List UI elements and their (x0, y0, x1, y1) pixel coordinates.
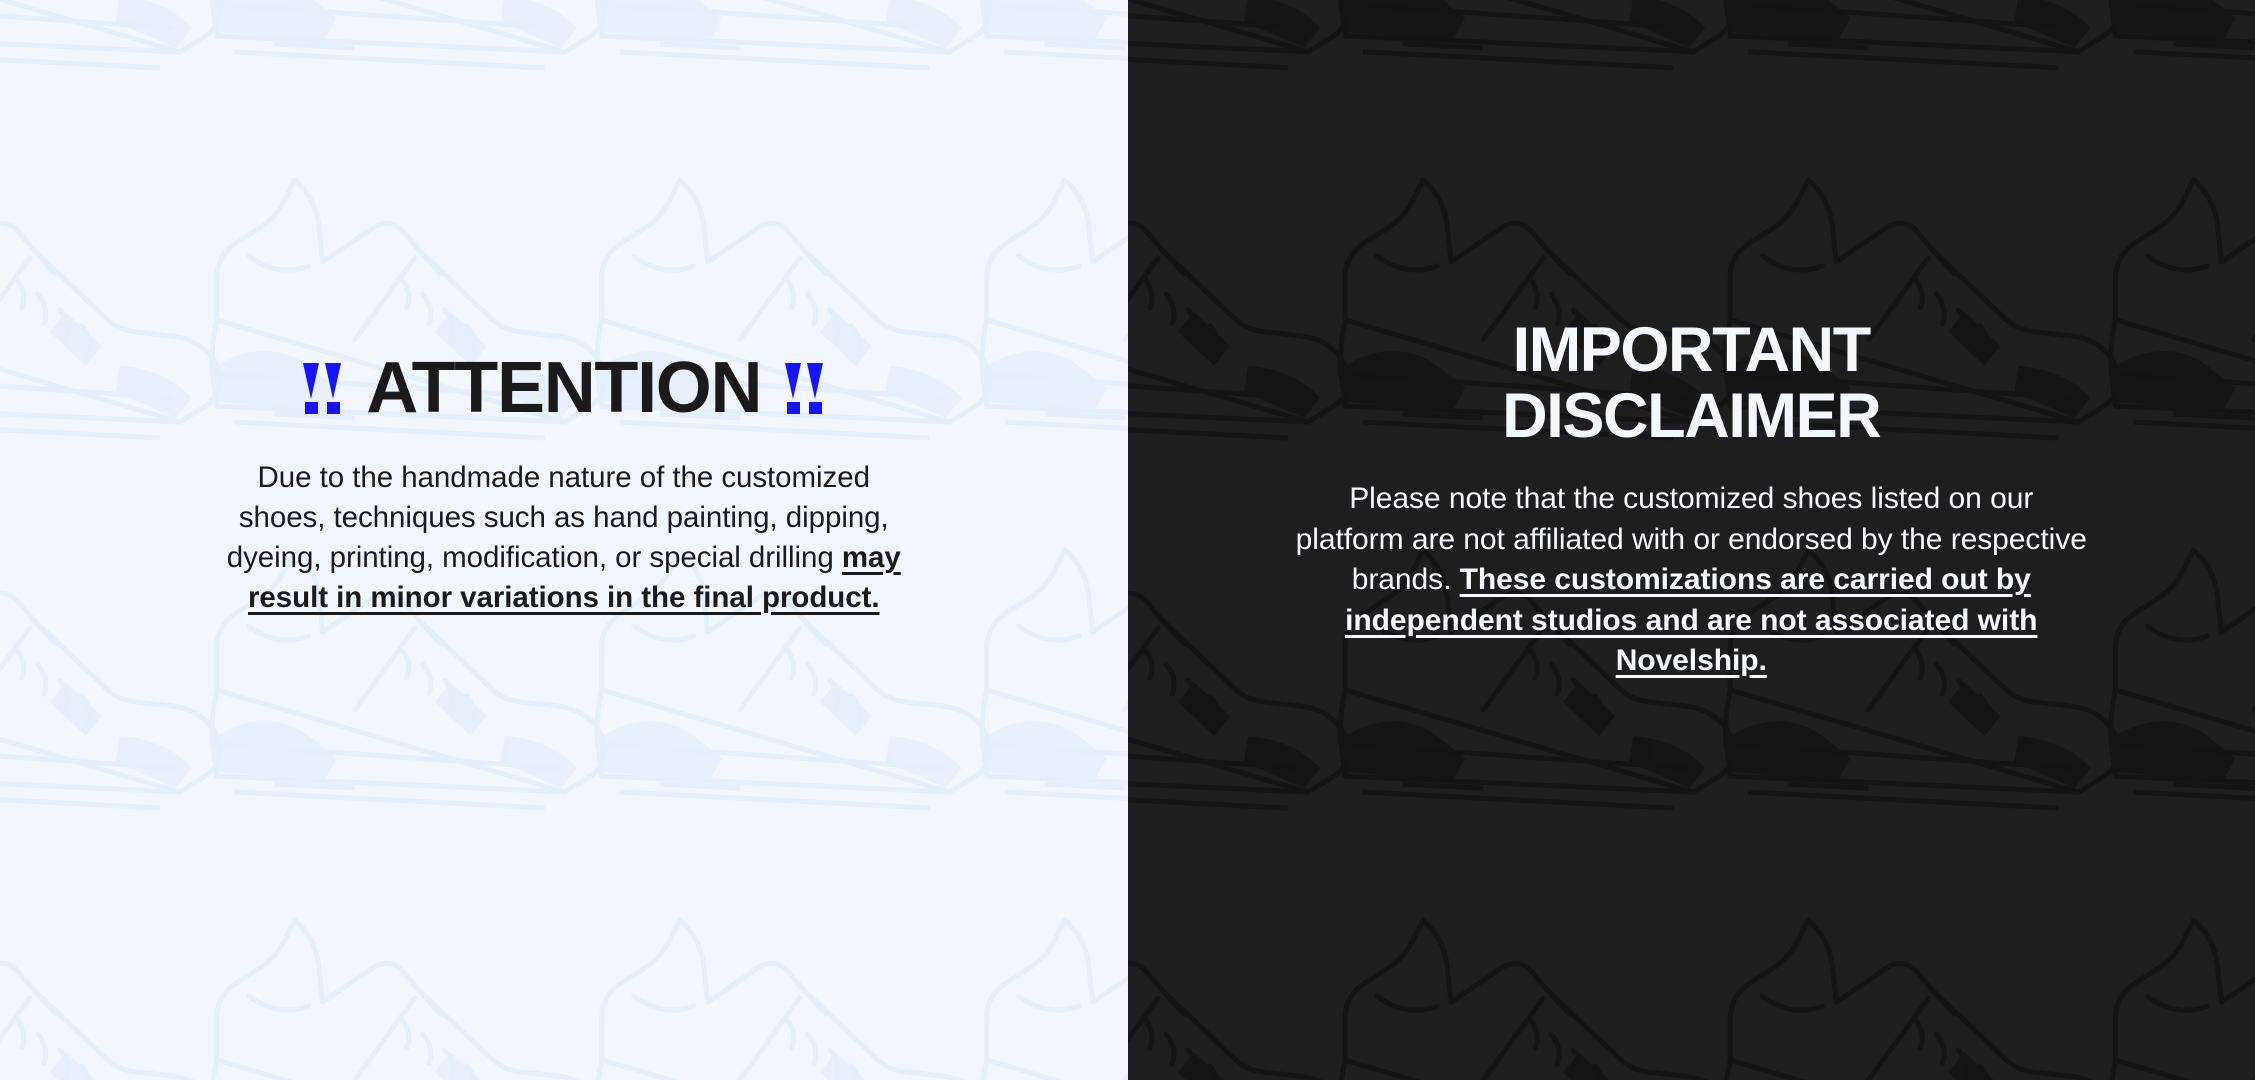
double-exclamation-right-icon (785, 363, 824, 414)
attention-content: ATTENTION Due to the handmade nature of … (0, 0, 1128, 618)
disclaimer-panel: IMPORTANT DISCLAIMER Please note that th… (1128, 0, 2255, 1080)
attention-panel: ATTENTION Due to the handmade nature of … (0, 0, 1128, 1080)
disclaimer-body: Please note that the customized shoes li… (1291, 479, 2091, 682)
attention-body-normal: Due to the handmade nature of the custom… (227, 461, 889, 574)
attention-body: Due to the handmade nature of the custom… (214, 458, 914, 618)
disclaimer-heading-line1: IMPORTANT (1502, 318, 1880, 384)
attention-heading: ATTENTION (303, 352, 824, 424)
double-exclamation-left-icon (303, 363, 342, 414)
disclaimer-banner: ATTENTION Due to the handmade nature of … (0, 0, 2255, 1080)
disclaimer-content: IMPORTANT DISCLAIMER Please note that th… (1128, 0, 2255, 682)
disclaimer-heading-line2: DISCLAIMER (1502, 384, 1880, 450)
attention-heading-text: ATTENTION (366, 352, 761, 424)
disclaimer-heading: IMPORTANT DISCLAIMER (1502, 318, 1880, 449)
